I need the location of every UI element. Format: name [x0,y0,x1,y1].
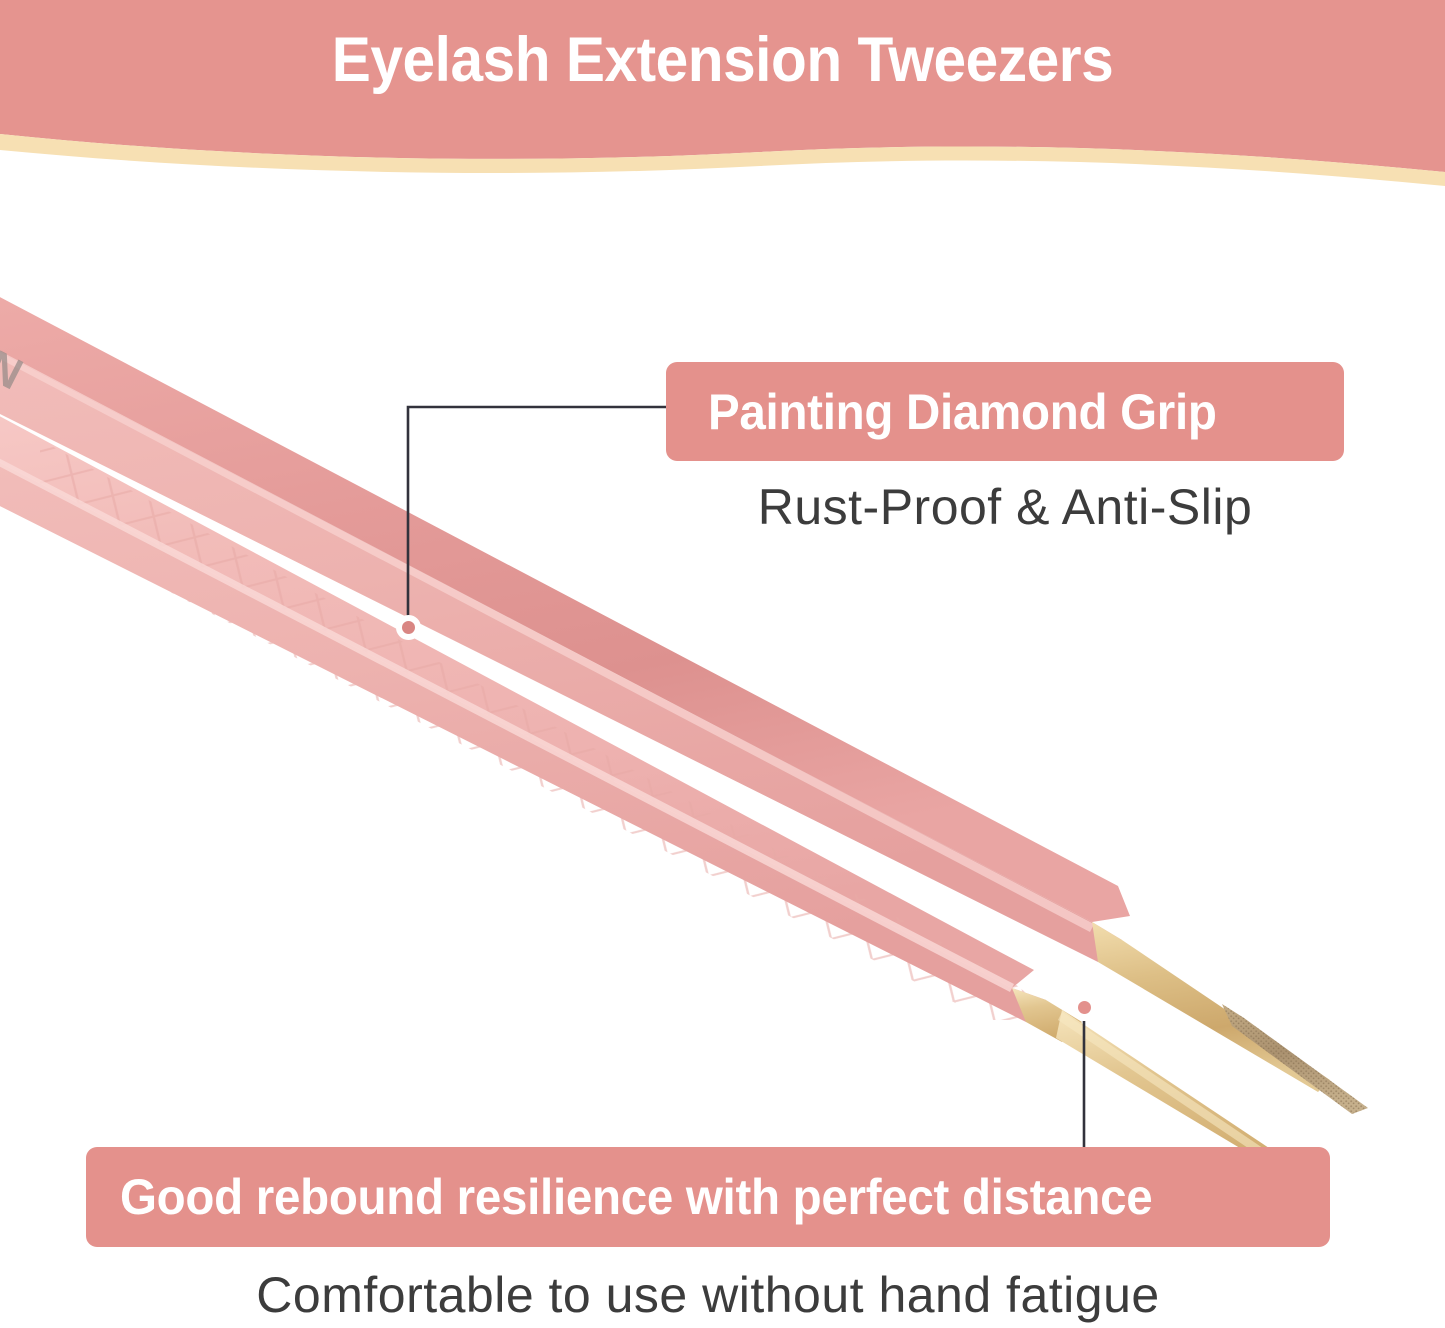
upper-arm-diamond-texture [1222,1004,1368,1114]
product-infographic: Eyelash Extension Tweezers [0,0,1445,1328]
callout-badge-rebound: Good rebound resilience with perfect dis… [86,1147,1330,1247]
header-banner: Eyelash Extension Tweezers [0,0,1445,200]
callout-badge-rebound-label: Good rebound resilience with perfect dis… [120,1168,1152,1226]
tweezers-illustration: N [0,180,1445,1160]
page-title: Eyelash Extension Tweezers [51,26,1395,95]
callout-caption-rebound: Comfortable to use without hand fatigue [86,1266,1330,1324]
lower-arm-needle-tip [1056,1010,1320,1160]
callout-badge-grip-label: Painting Diamond Grip [708,383,1217,441]
callout-badge-grip: Painting Diamond Grip [666,362,1344,461]
product-image: N [0,180,1445,1160]
tip-marker-icon [1072,995,1097,1020]
grip-marker-icon [396,615,421,640]
callout-caption-grip: Rust-Proof & Anti-Slip [666,478,1344,536]
